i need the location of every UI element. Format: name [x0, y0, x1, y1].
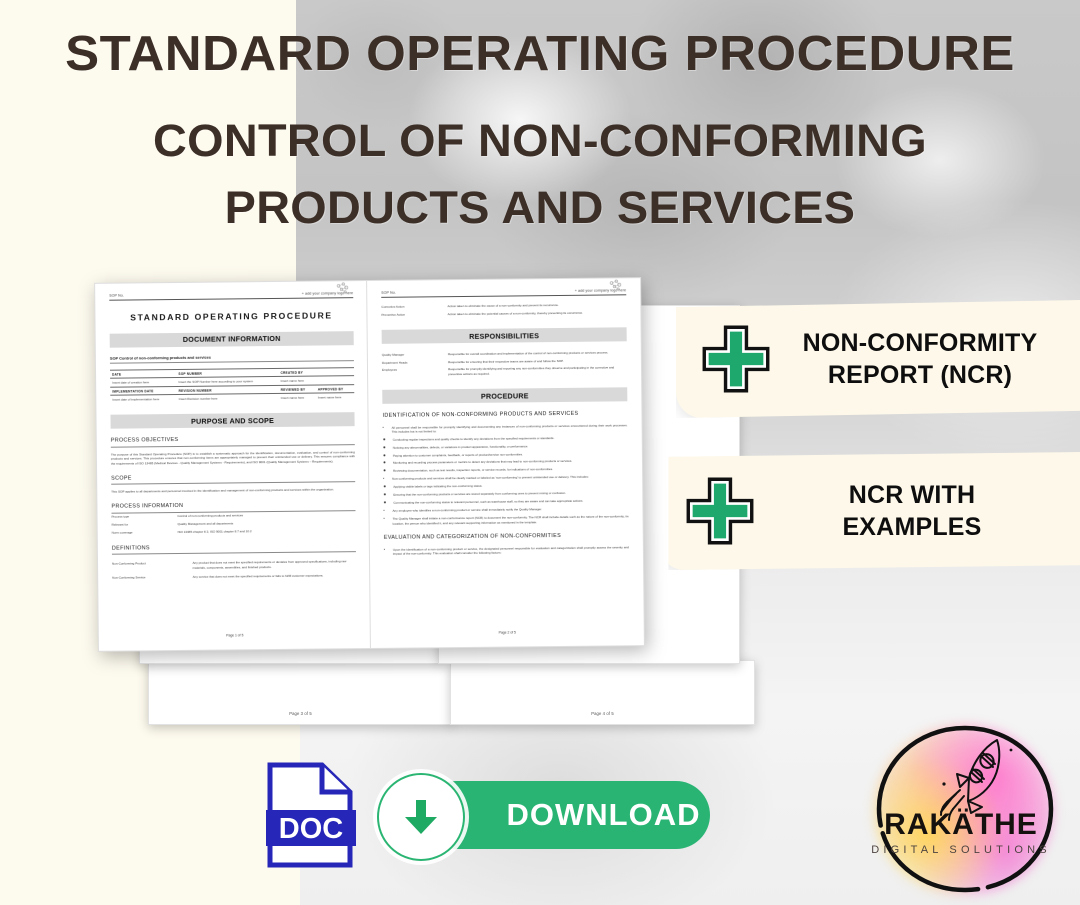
- document-section-definitions: DEFINITIONS: [112, 543, 356, 555]
- list-item: Monitoring and recording process paramet…: [393, 459, 628, 466]
- list-item: Upon the identification of a non-conform…: [393, 545, 629, 557]
- background-sheet-pagenum: Page 3 of 5: [149, 711, 452, 716]
- doc-file-label: DOC: [279, 813, 344, 845]
- document-bullet-list-3: Any employee who identifies a non-confor…: [383, 507, 628, 527]
- list-item: The Quality Manager shall initiate a non…: [393, 515, 629, 527]
- cell-term: Non-Conforming Service: [112, 572, 193, 581]
- poster-subtitle: CONTROL OF NON-CONFORMING PRODUCTS AND S…: [0, 108, 1080, 241]
- cell-value: ISO 13485 chapter 8.3, ISO 9001 chapter …: [178, 526, 356, 536]
- banner-label-line-2: EXAMPLES: [758, 511, 1066, 543]
- document-responsibilities-table: Quality Manager Responsible for overall …: [382, 348, 627, 378]
- cell-empty: [316, 376, 354, 385]
- document-information-table: DATE SOP NUMBER CREATED BY Insert date o…: [110, 367, 354, 403]
- document-page-number-2: Page 2 of 5: [385, 629, 630, 636]
- cell-responsibility: Responsible for promptly identifying and…: [448, 364, 627, 378]
- poster-subtitle-line-2: PRODUCTS AND SERVICES: [0, 175, 1080, 242]
- poster-main-title: STANDARD OPERATING PROCEDURE: [0, 30, 1080, 80]
- document-page-1: SOP No. + add your company logo here STA…: [94, 280, 372, 652]
- document-page-number-1: Page 1 of 5: [113, 632, 357, 639]
- feature-banner-ncr-examples[interactable]: NCR WITH EXAMPLES: [660, 452, 1080, 570]
- banner-label-ncr: NON-CONFORMITY REPORT (NCR): [774, 327, 1080, 391]
- download-arrow-icon: [399, 795, 443, 839]
- document-band-procedure: PROCEDURE: [382, 387, 627, 404]
- download-button-circle[interactable]: [377, 773, 465, 861]
- banner-label-line-1: NON-CONFORMITY: [774, 327, 1066, 359]
- document-band-responsibilities: RESPONSIBILITIES: [382, 327, 627, 344]
- cell-reviewed-by: Insert name here: [279, 393, 316, 402]
- list-item: Conducting regular inspections and quali…: [393, 435, 628, 442]
- document-header: SOP No. + add your company logo here: [109, 291, 353, 300]
- document-page-2: SOP No. + add your company logo here Cor…: [366, 277, 645, 649]
- document-definitions-table: Non-Conforming Product Any product that …: [112, 558, 356, 582]
- feature-banner-ncr[interactable]: NON-CONFORMITY REPORT (NCR): [676, 300, 1080, 418]
- document-text-scope: This SOP applies to all departments and …: [111, 488, 355, 495]
- list-item: Any employee who identifies a non-confor…: [392, 507, 628, 514]
- green-cross-icon: [682, 473, 758, 549]
- cell-created-by: Insert name here: [279, 376, 316, 385]
- document-sop-subject: SOP Control of non-conforming products a…: [110, 353, 354, 364]
- cell-approved-by: Insert name here: [316, 393, 354, 402]
- document-header-left: SOP No.: [381, 291, 396, 295]
- cell-revision-number: Insert Revision number here: [177, 394, 279, 403]
- document-section-identification: IDENTIFICATION OF NON-CONFORMING PRODUCT…: [382, 410, 627, 421]
- table-row: Non-Conforming Service Any service that …: [112, 571, 356, 582]
- cell-term: Non-Conforming Product: [112, 559, 193, 573]
- poster-headings: STANDARD OPERATING PROCEDURE CONTROL OF …: [0, 16, 1080, 241]
- background-sheet-pagenum: Page 4 of 5: [451, 711, 754, 716]
- document-spread-preview: SOP No. + add your company logo here STA…: [94, 277, 643, 650]
- document-bullet-list-4: Upon the identification of a non-conform…: [384, 545, 629, 557]
- table-row: Employees Responsible for promptly ident…: [382, 364, 627, 379]
- cell-definition: Action taken to eliminate the potential …: [448, 309, 627, 319]
- document-section-evaluation: EVALUATION AND CATEGORIZATION OF NON-CON…: [384, 533, 629, 544]
- cell-definition: Any service that does not meet the speci…: [193, 571, 357, 581]
- list-item: All personnel shall be responsible for p…: [392, 423, 628, 435]
- background-sheet-page4: Page 4 of 5: [450, 660, 755, 725]
- list-item: Communicating the non-conforming status …: [393, 498, 628, 505]
- banner-label-line-2: REPORT (NCR): [774, 359, 1066, 391]
- list-item: Reviewing documentation, such as test re…: [393, 466, 628, 473]
- document-bullet-list-2: Non-conforming products and services sha…: [383, 475, 628, 482]
- document-title: STANDARD OPERATING PROCEDURE: [109, 310, 353, 323]
- download-button-label: DOWNLOAD: [497, 781, 710, 849]
- list-item: Noticing any abnormalities, defects, or …: [393, 443, 628, 450]
- cell-term: Preventive Action: [381, 310, 447, 318]
- document-header: SOP No. + add your company logo here: [381, 288, 626, 297]
- document-band-document-information: DOCUMENT INFORMATION: [110, 331, 354, 348]
- background-sheet-page3: Page 3 of 5: [148, 660, 453, 725]
- document-section-process-objectives: PROCESS OBJECTIVES: [111, 435, 355, 447]
- cell-implementation-date: Insert date of implementation here: [110, 395, 176, 404]
- list-item: Non-conforming products and services sha…: [392, 475, 628, 482]
- logo-brand-name: RAKÄTHE: [861, 808, 1061, 842]
- document-header-left: SOP No.: [109, 294, 124, 298]
- brand-logo: RAKÄTHE DIGITAL SOLUTIONS: [861, 722, 1067, 900]
- document-sub-bullet-list-2: Applying visible labels or tags indicati…: [383, 483, 628, 505]
- company-logo-placeholder-icon: [606, 279, 624, 292]
- document-text-process-objectives: The purpose of this Standard Operating P…: [111, 450, 355, 467]
- banner-label-line-1: NCR WITH: [758, 479, 1066, 511]
- list-item: Paying attention to customer complaints,…: [393, 451, 628, 458]
- banner-label-ncr-examples: NCR WITH EXAMPLES: [758, 479, 1080, 543]
- doc-file-icon: DOC: [266, 762, 356, 868]
- logo-tagline: DIGITAL SOLUTIONS: [861, 844, 1061, 856]
- company-logo-placeholder-icon: [333, 282, 351, 295]
- list-item: Ensuring that the non-conforming product…: [393, 490, 628, 497]
- list-item: Applying visible labels or tags indicati…: [393, 483, 628, 490]
- green-cross-icon: [698, 321, 774, 397]
- document-section-scope: SCOPE: [111, 473, 355, 485]
- cell-role: Employees: [382, 366, 448, 379]
- document-band-purpose-and-scope: PURPOSE AND SCOPE: [110, 412, 354, 429]
- cell-key: Norm coverage: [112, 528, 178, 536]
- document-sub-bullet-list-1: Conducting regular inspections and quali…: [383, 435, 628, 473]
- document-definitions-continued-table: Corrective Action Action taken to elimin…: [381, 301, 626, 319]
- document-bullet-list-1: All personnel shall be responsible for p…: [383, 423, 628, 435]
- table-row: Preventive Action Action taken to elimin…: [381, 309, 626, 319]
- table-row: Norm coverage ISO 13485 chapter 8.3, ISO…: [112, 526, 356, 536]
- document-process-information-table: Process type Control of non-conforming p…: [112, 511, 356, 537]
- poster-subtitle-line-1: CONTROL OF NON-CONFORMING: [0, 108, 1080, 175]
- download-button[interactable]: DOWNLOAD: [377, 773, 710, 857]
- poster-canvas: STANDARD OPERATING PROCEDURE CONTROL OF …: [0, 0, 1080, 905]
- table-row: Insert date of implementation here Inser…: [110, 393, 354, 404]
